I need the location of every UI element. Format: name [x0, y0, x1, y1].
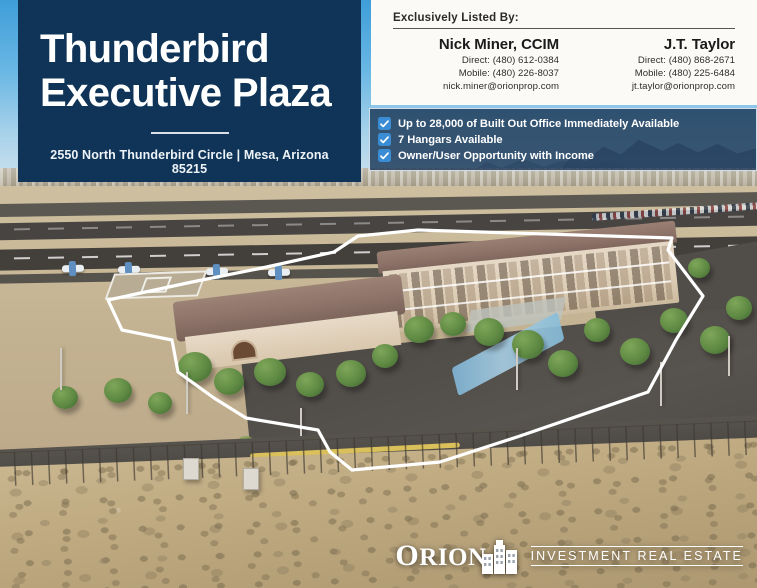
tree [104, 378, 132, 403]
highlight-item: 7 Hangars Available [378, 133, 748, 146]
exclusively-listed-by-label: Exclusively Listed By: [393, 12, 735, 29]
orion-tagline: INVESTMENT REAL ESTATE [531, 550, 743, 563]
checkmark-icon [378, 149, 391, 162]
broker-email[interactable]: nick.miner@orionprop.com [393, 80, 559, 93]
orion-tagline-box: INVESTMENT REAL ESTATE [531, 546, 743, 566]
highlight-item: Up to 28,000 of Built Out Office Immedia… [378, 117, 748, 130]
tree [688, 258, 710, 278]
tree [214, 368, 244, 395]
highlight-item: Owner/User Opportunity with Income [378, 149, 748, 162]
highlight-text: Up to 28,000 of Built Out Office Immedia… [398, 118, 679, 130]
parked-aircraft [206, 268, 228, 276]
contact-card: Exclusively Listed By: Nick Miner, CCIM … [371, 0, 757, 105]
broker-name: J.T. Taylor [569, 36, 735, 53]
tree [548, 350, 578, 377]
building-towers-icon [479, 538, 525, 574]
light-pole [186, 372, 188, 414]
page-title-line-1: Thunderbird [40, 28, 339, 70]
light-pole [660, 362, 662, 406]
title-block: Thunderbird Executive Plaza 2550 North T… [18, 0, 361, 182]
checkmark-icon [378, 117, 391, 130]
broker-jt-taylor: J.T. Taylor Direct: (480) 868-2671 Mobil… [569, 36, 735, 94]
broker-direct-phone[interactable]: Direct: (480) 868-2671 [569, 54, 735, 67]
tree [372, 344, 398, 368]
utility-shed [243, 468, 259, 490]
tree [584, 318, 610, 342]
property-flyer: Thunderbird Executive Plaza 2550 North T… [0, 0, 757, 588]
tree [254, 358, 286, 386]
orion-wordmark: ORION [395, 541, 486, 571]
tree [148, 392, 172, 414]
light-pole [516, 348, 518, 390]
tree [700, 326, 730, 354]
parked-aircraft [62, 265, 84, 273]
broker-mobile-phone[interactable]: Mobile: (480) 226-8037 [393, 67, 559, 80]
parked-aircraft [268, 269, 290, 277]
broker-list: Nick Miner, CCIM Direct: (480) 612-0384 … [393, 36, 735, 94]
tree [178, 352, 212, 382]
orion-wordmark-capital: O [395, 539, 419, 572]
orion-wordmark-rest: RION [419, 544, 486, 571]
tree [296, 372, 324, 397]
highlight-text: 7 Hangars Available [398, 134, 503, 146]
property-highlights-panel: Up to 28,000 of Built Out Office Immedia… [369, 108, 757, 171]
utility-shed [183, 458, 199, 480]
broker-nick-miner: Nick Miner, CCIM Direct: (480) 612-0384 … [393, 36, 559, 94]
highlight-text: Owner/User Opportunity with Income [398, 150, 594, 162]
tree [336, 360, 366, 387]
broker-email[interactable]: jt.taylor@orionprop.com [569, 80, 735, 93]
broker-mobile-phone[interactable]: Mobile: (480) 225-6484 [569, 67, 735, 80]
tree [620, 338, 650, 365]
tree [726, 296, 752, 320]
light-pole [728, 336, 730, 376]
page-title-line-2: Executive Plaza [40, 72, 339, 114]
checkmark-icon [378, 133, 391, 146]
helipad-marking [105, 270, 208, 299]
light-pole [60, 348, 62, 390]
tree [52, 386, 78, 409]
title-divider [151, 132, 229, 134]
property-address: 2550 North Thunderbird Circle | Mesa, Ar… [40, 148, 339, 176]
tree [440, 312, 466, 336]
tree [404, 316, 434, 343]
broker-direct-phone[interactable]: Direct: (480) 612-0384 [393, 54, 559, 67]
tree [660, 308, 688, 333]
orion-logo: ORION INVESTMENT REAL ESTATE [395, 538, 743, 574]
tree [474, 318, 504, 346]
broker-name: Nick Miner, CCIM [393, 36, 559, 53]
